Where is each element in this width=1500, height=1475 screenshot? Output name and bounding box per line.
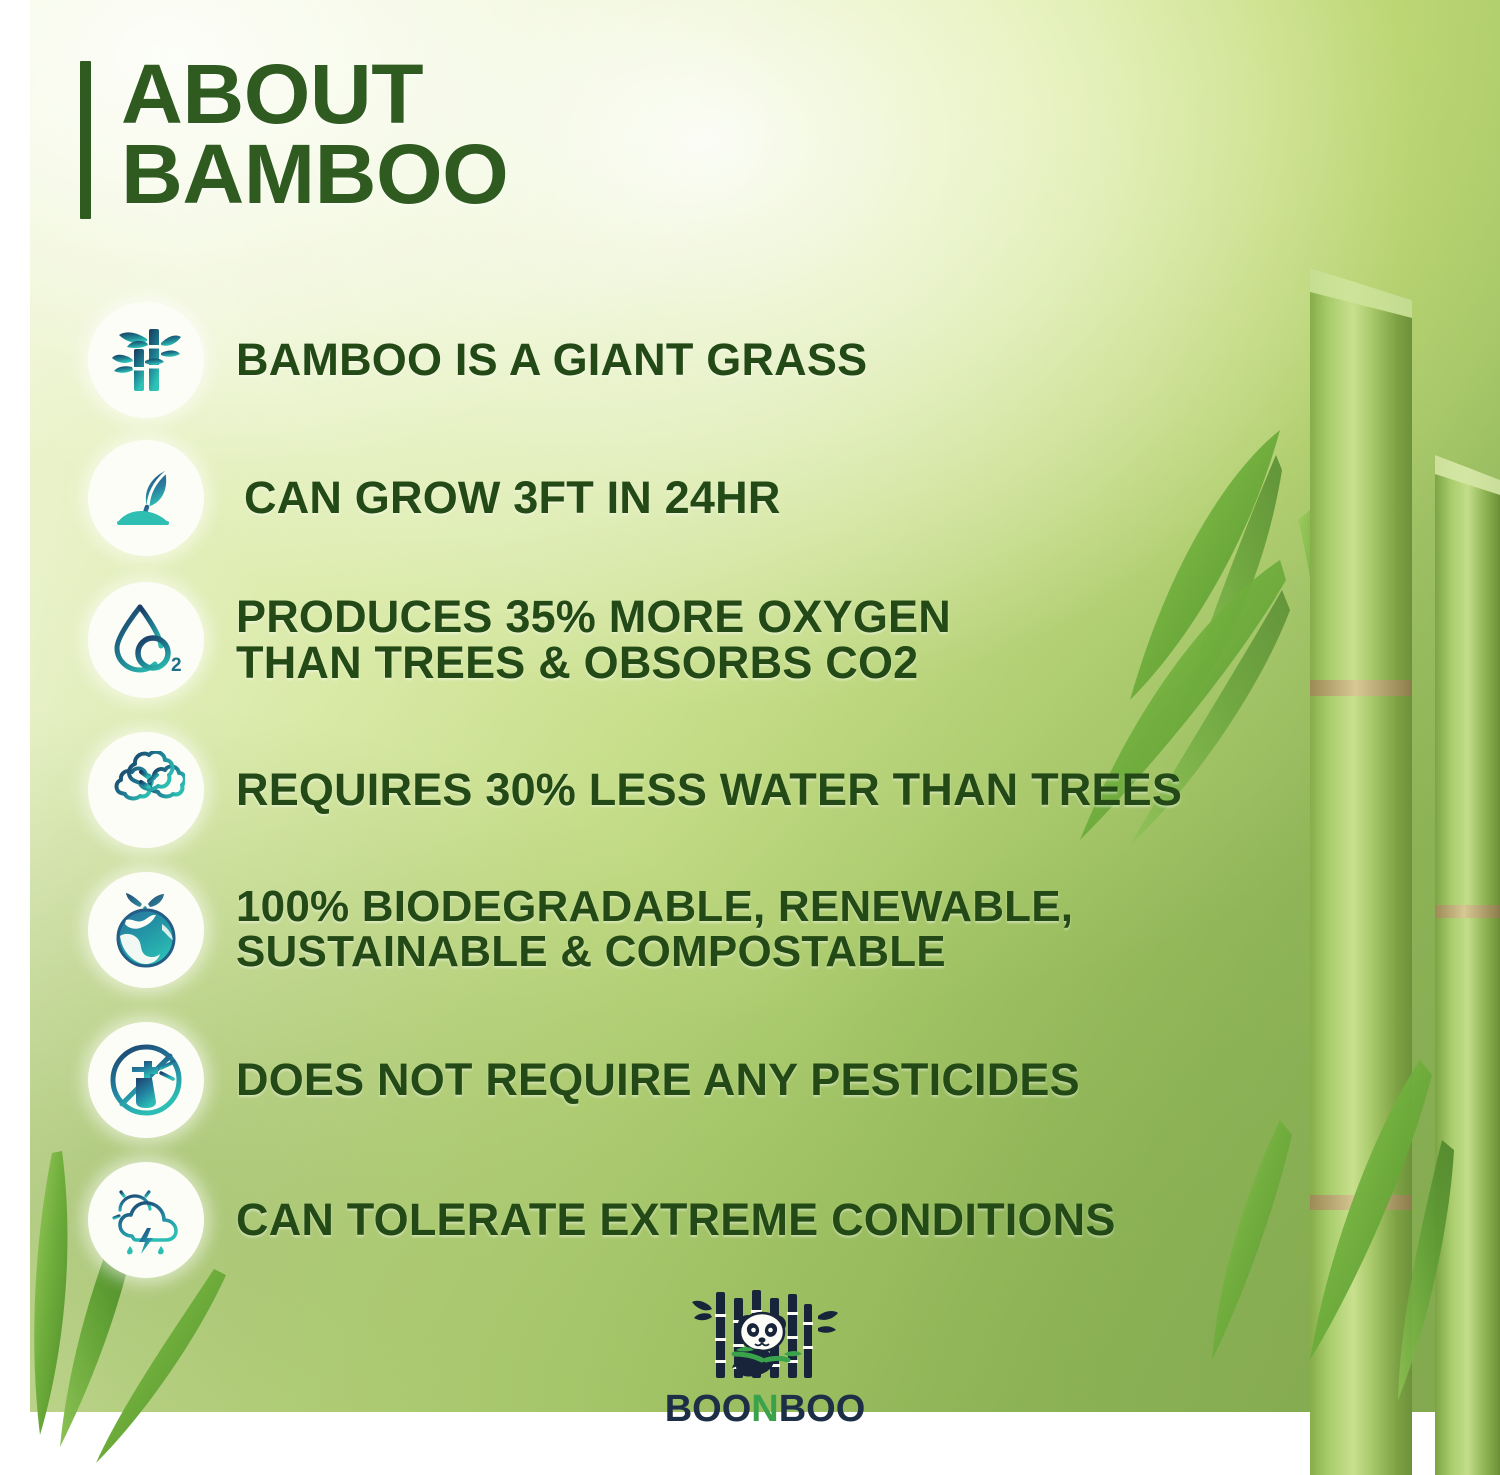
fact-icon-badge [88,732,204,848]
about-bamboo-infographic: ABOUT BAMBOO [0,0,1500,1475]
title-line-2: BAMBOO [121,135,508,215]
fact-row: 2 PRODUCES 35% MORE OXYGEN THAN TREES & … [88,582,951,698]
fact-text: DOES NOT REQUIRE ANY PESTICIDES [236,1057,1080,1103]
globe-leaf-icon [106,890,186,970]
logo-accent-letter: N [751,1388,778,1430]
brand-logo[interactable]: BOONBOO [660,1288,870,1428]
fact-icon-badge [88,302,204,418]
fact-text: CAN GROW 3FT IN 24HR [244,475,781,521]
panda-bamboo-icon [690,1288,840,1388]
page-title: ABOUT BAMBOO [80,55,501,219]
fact-row: BAMBOO IS A GIANT GRASS [88,302,867,418]
storm-weather-icon [106,1180,186,1260]
fact-row: REQUIRES 30% LESS WATER THAN TREES [88,732,1182,848]
logo-part-1: BOO [665,1388,752,1430]
fact-text: PRODUCES 35% MORE OXYGEN THAN TREES & OB… [236,594,951,686]
title-text-block: ABOUT BAMBOO [121,55,508,215]
fact-row: CAN TOLERATE EXTREME CONDITIONS [88,1162,1116,1278]
sprout-icon [109,461,183,535]
bamboo-stalks-icon [107,321,185,399]
fact-row: CAN GROW 3FT IN 24HR [88,440,781,556]
logo-part-2: BOO [779,1388,866,1430]
fact-icon-badge [88,440,204,556]
fact-icon-badge [88,1162,204,1278]
fact-icon-badge: 2 [88,582,204,698]
fact-text: CAN TOLERATE EXTREME CONDITIONS [236,1197,1116,1243]
svg-text:2: 2 [171,655,182,676]
fact-icon-badge [88,1022,204,1138]
fact-text: REQUIRES 30% LESS WATER THAN TREES [236,767,1182,813]
fact-icon-badge [88,872,204,988]
fact-row: DOES NOT REQUIRE ANY PESTICIDES [88,1022,1080,1138]
oxygen-droplet-icon: 2 [107,601,185,679]
fact-text: BAMBOO IS A GIANT GRASS [236,337,867,383]
brand-wordmark: BOONBOO [660,1390,870,1428]
fact-row: 100% BIODEGRADABLE, RENEWABLE, SUSTAINAB… [88,872,1073,988]
no-pesticide-spray-icon [106,1040,186,1120]
title-accent-bar [80,61,91,219]
trees-icon [107,751,185,829]
fact-text: 100% BIODEGRADABLE, RENEWABLE, SUSTAINAB… [236,885,1073,975]
